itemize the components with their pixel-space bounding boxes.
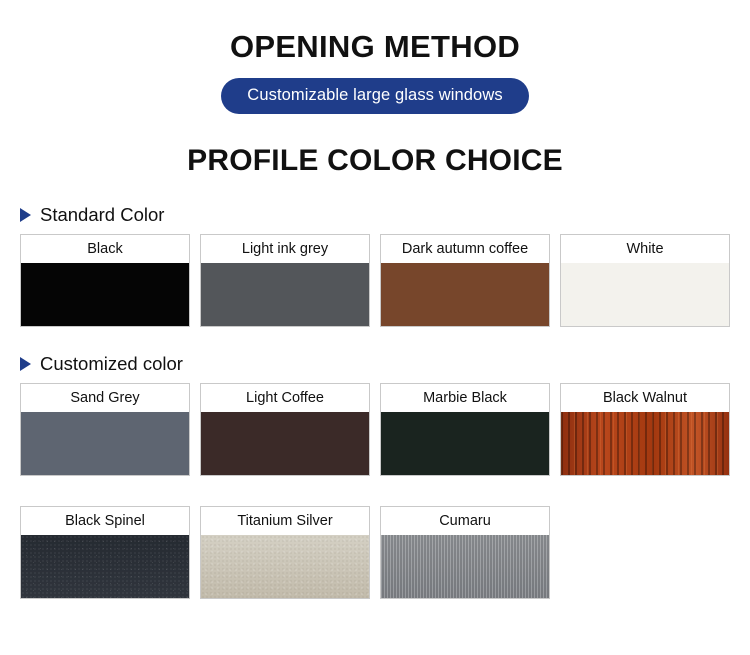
swatch-color-area [561, 263, 729, 326]
swatch-grid-standard: Black Light ink grey Dark autumn coffee … [0, 234, 750, 327]
swatch-color-area [381, 263, 549, 326]
swatch-color-area [381, 535, 549, 598]
swatch-label: White [561, 235, 729, 263]
color-swatch[interactable]: Marbie Black [380, 383, 550, 476]
swatch-color-area [21, 412, 189, 475]
profile-color-choice-page: OPENING METHOD Customizable large glass … [0, 0, 750, 655]
swatch-label: Light Coffee [201, 384, 369, 412]
grid-row-spacer [20, 486, 730, 496]
subtitle-pill-container: Customizable large glass windows [0, 78, 750, 114]
swatch-grid-customized: Sand Grey Light Coffee Marbie Black Blac… [0, 383, 750, 599]
color-swatch[interactable]: Black [20, 234, 190, 327]
swatch-label: Black Spinel [21, 507, 189, 535]
swatch-label: Black Walnut [561, 384, 729, 412]
section-title-customized: Customized color [40, 353, 183, 375]
color-swatch[interactable]: Dark autumn coffee [380, 234, 550, 327]
section-header-customized-color: Customized color [20, 353, 750, 375]
swatch-label: Dark autumn coffee [381, 235, 549, 263]
section-heading-profile-color: PROFILE COLOR CHOICE [0, 144, 750, 178]
swatch-color-area [21, 263, 189, 326]
section-title-standard: Standard Color [40, 204, 164, 226]
color-swatch[interactable]: Sand Grey [20, 383, 190, 476]
subtitle-pill: Customizable large glass windows [221, 78, 528, 114]
swatch-color-area [201, 535, 369, 598]
swatch-label: Light ink grey [201, 235, 369, 263]
swatch-label: Black [21, 235, 189, 263]
swatch-label: Cumaru [381, 507, 549, 535]
color-swatch[interactable]: Light Coffee [200, 383, 370, 476]
triangle-right-icon [20, 357, 31, 371]
swatch-color-area [21, 535, 189, 598]
swatch-label: Sand Grey [21, 384, 189, 412]
section-header-standard-color: Standard Color [20, 204, 750, 226]
color-swatch[interactable]: Black Spinel [20, 506, 190, 599]
triangle-right-icon [20, 208, 31, 222]
swatch-color-area [561, 412, 729, 475]
color-swatch[interactable]: Titanium Silver [200, 506, 370, 599]
color-swatch[interactable]: White [560, 234, 730, 327]
swatch-color-area [201, 412, 369, 475]
color-swatch[interactable]: Black Walnut [560, 383, 730, 476]
swatch-color-area [201, 263, 369, 326]
color-swatch[interactable]: Cumaru [380, 506, 550, 599]
page-title: OPENING METHOD [0, 0, 750, 64]
color-swatch[interactable]: Light ink grey [200, 234, 370, 327]
swatch-label: Marbie Black [381, 384, 549, 412]
swatch-color-area [381, 412, 549, 475]
swatch-label: Titanium Silver [201, 507, 369, 535]
